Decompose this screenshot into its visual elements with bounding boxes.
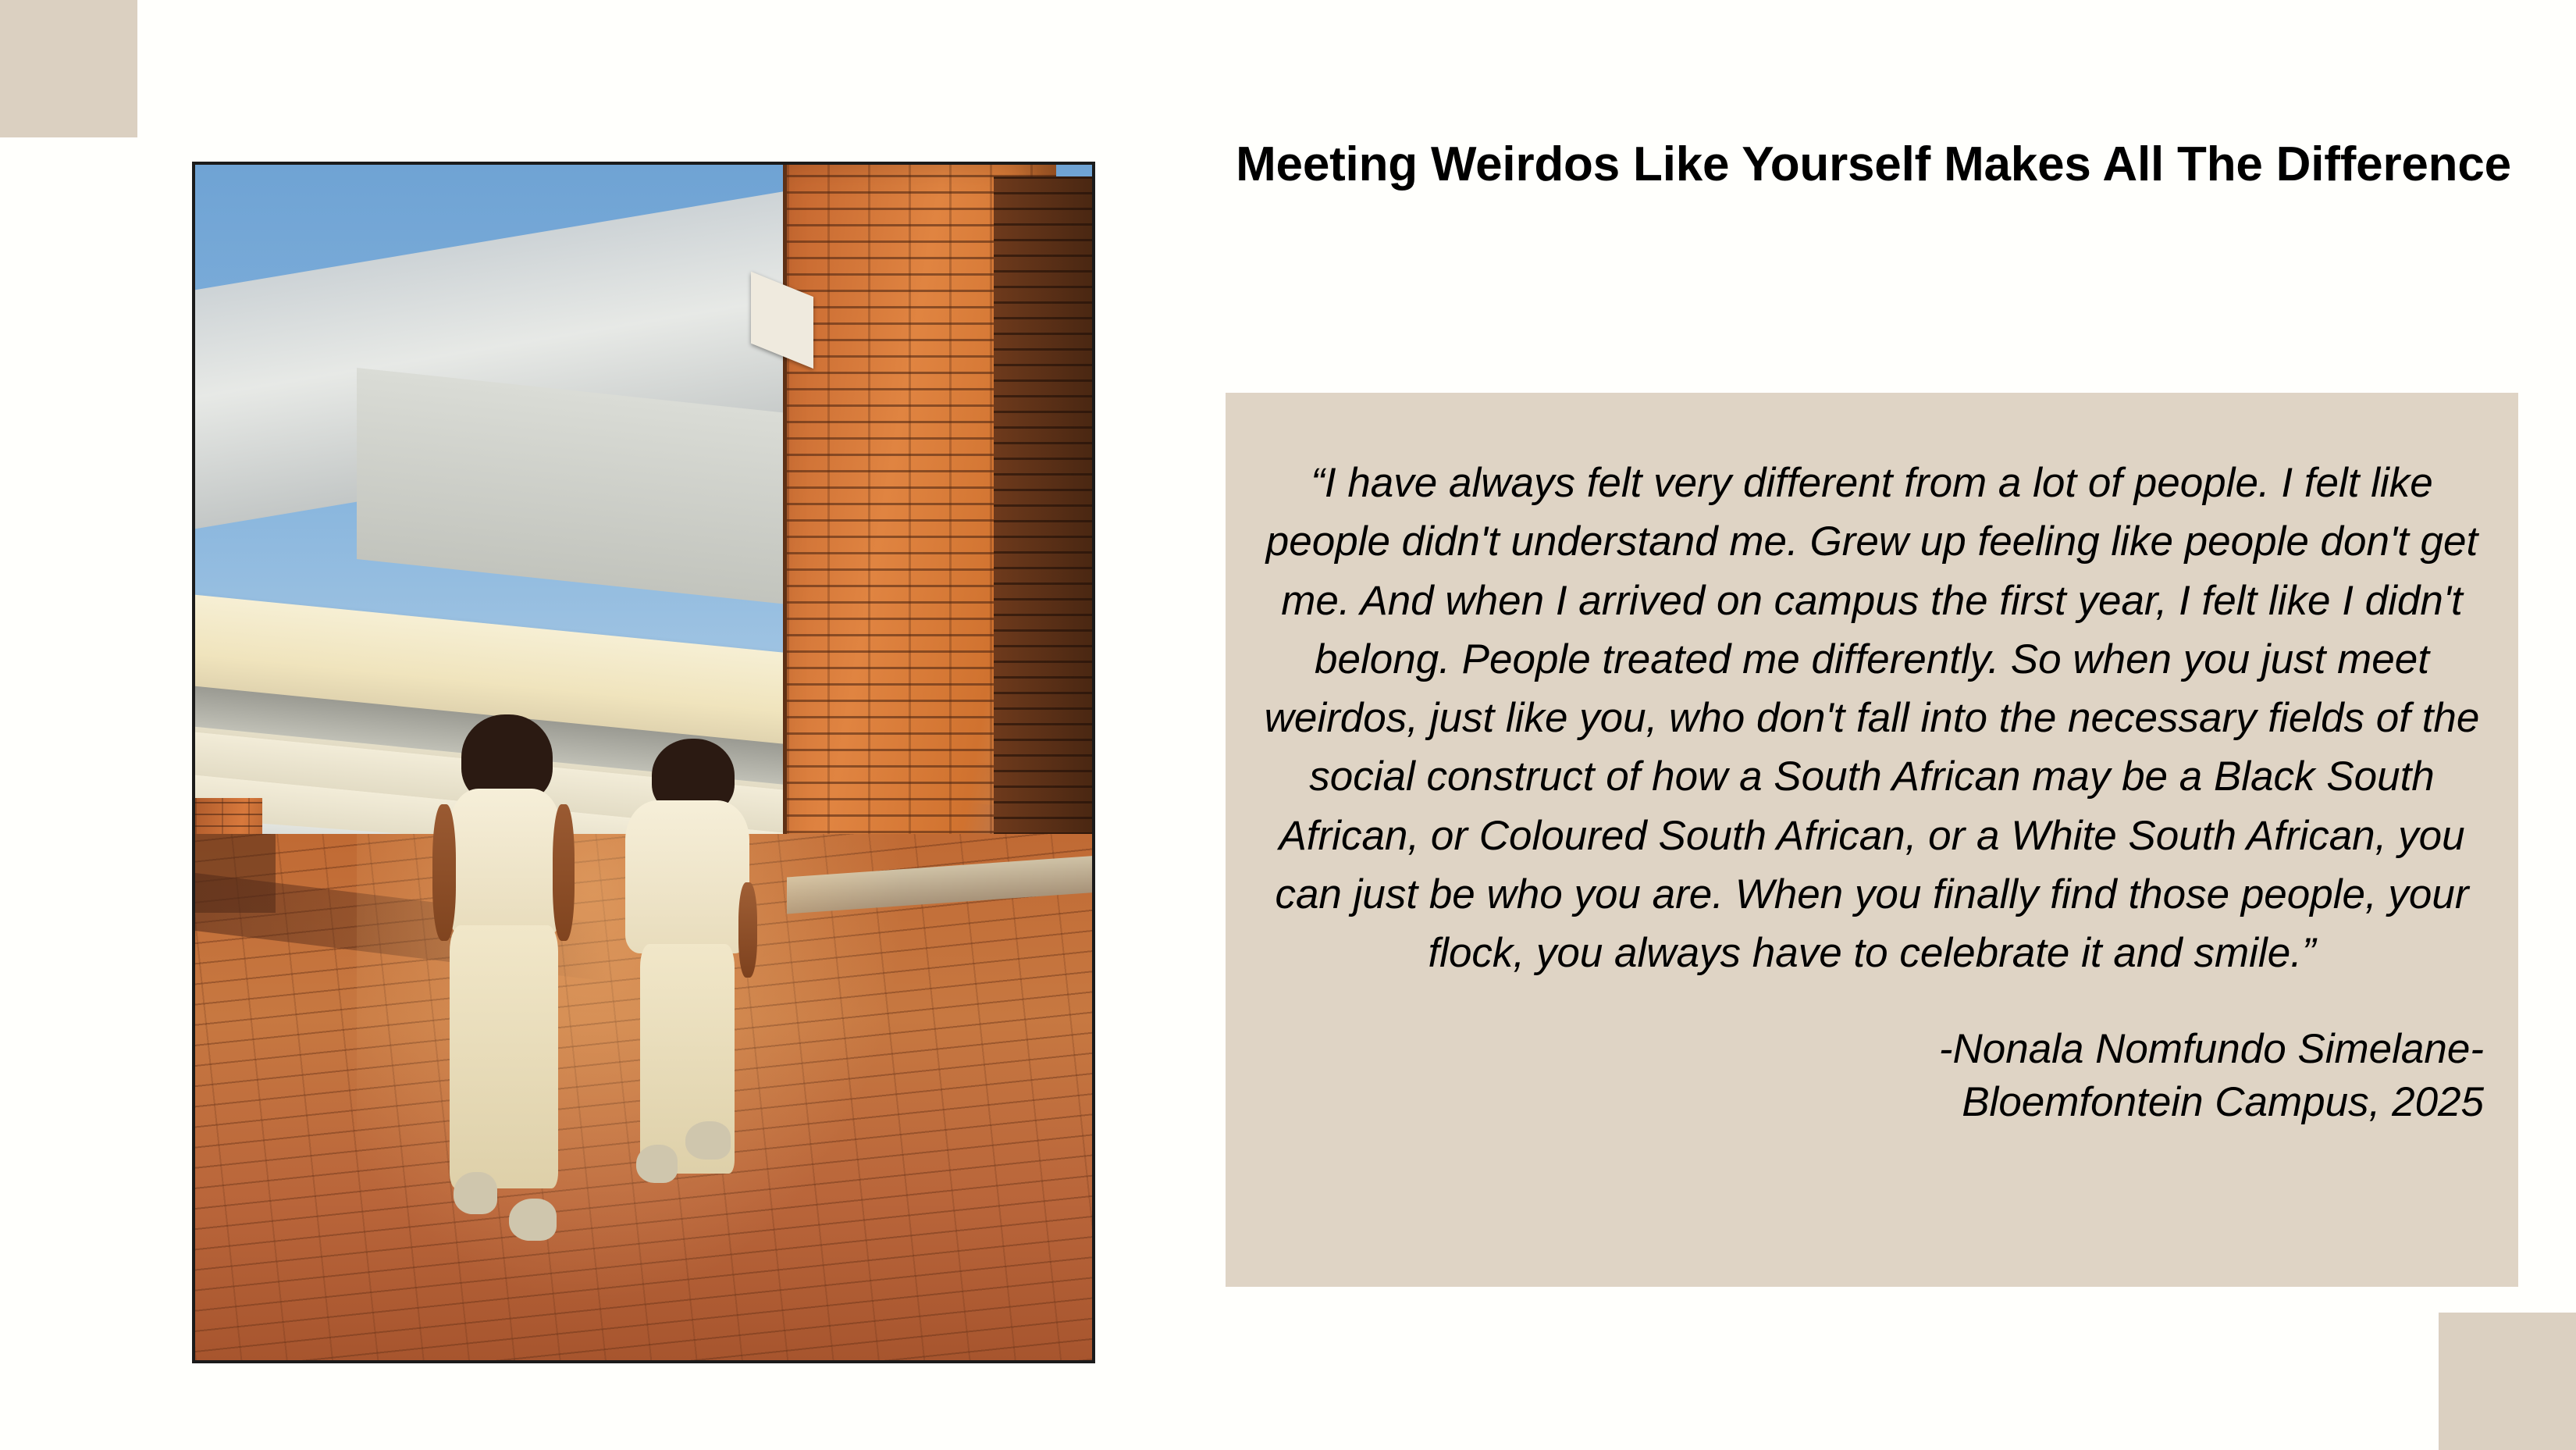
- slide-title: Meeting Weirdos Like Yourself Makes All …: [1226, 129, 2521, 201]
- photo-person-left: [411, 714, 608, 1241]
- campus-photo: [192, 162, 1095, 1363]
- decor-block-bottom-right: [2439, 1313, 2576, 1450]
- photo-person-right: [599, 739, 787, 1217]
- attribution-name: -Nonala Nomfundo Simelane-: [1246, 1023, 2484, 1076]
- photo-inner: [195, 165, 1092, 1360]
- quote-body: “I have always felt very different from …: [1246, 454, 2498, 982]
- decor-block-top-left: [0, 0, 137, 137]
- slide-canvas: Meeting Weirdos Like Yourself Makes All …: [0, 0, 2576, 1450]
- attribution-place: Bloemfontein Campus, 2025: [1246, 1076, 2484, 1129]
- quote-panel: “I have always felt very different from …: [1226, 393, 2518, 1287]
- quote-attribution: -Nonala Nomfundo Simelane- Bloemfontein …: [1246, 1023, 2484, 1129]
